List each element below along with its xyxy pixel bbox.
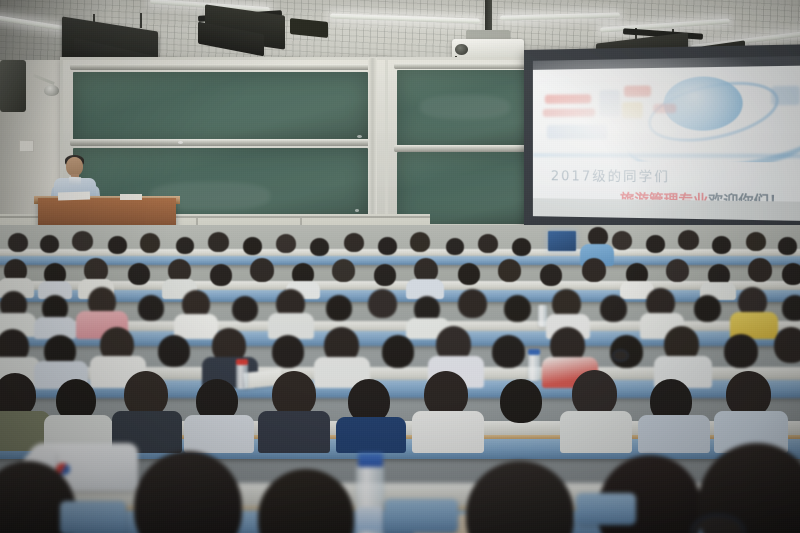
lecture-hall-photo: 2017级的同学们 旅游管理专业欢迎你们！ (0, 0, 800, 533)
student-head (694, 295, 721, 322)
student-head (272, 335, 304, 368)
student-head (478, 234, 498, 253)
bottle-cap-red (236, 359, 248, 365)
bottle-cap-blue (358, 453, 383, 467)
student-head (374, 264, 396, 286)
student-head (310, 238, 329, 256)
student-head (140, 233, 160, 253)
wall-outlet-plate (19, 140, 34, 152)
seat-cushion (576, 493, 636, 525)
seat-cushion (60, 501, 126, 533)
slide-art-element (624, 86, 651, 98)
student-head (332, 259, 355, 282)
seat-cushion (384, 499, 458, 533)
screen-bottom-bar (533, 198, 800, 221)
water-bottle (528, 353, 540, 381)
student-torso (638, 415, 710, 453)
slide-art-element (599, 90, 620, 117)
student-head (368, 289, 397, 318)
student-head (176, 237, 194, 254)
podium-papers (58, 191, 90, 200)
student-head (498, 259, 521, 282)
student-head (8, 233, 28, 252)
chalk-piece (355, 209, 359, 212)
eyeglasses-icon (612, 349, 629, 362)
student-head (612, 231, 632, 250)
bottle-label (356, 507, 384, 531)
chalkboard-divider (368, 58, 377, 228)
student-head (782, 295, 800, 321)
fixture-wire (140, 13, 142, 28)
screen-surface: 2017级的同学们 旅游管理专业欢迎你们！ (533, 56, 800, 221)
student-head (250, 258, 274, 282)
student-torso (184, 415, 254, 453)
student-head (712, 236, 731, 254)
slide-art-element (545, 94, 591, 104)
student-head (774, 327, 800, 363)
student-head (500, 379, 542, 423)
projection-screen: 2017级的同学们 旅游管理专业欢迎你们！ (524, 44, 800, 234)
student-head (746, 232, 766, 251)
dome-camera-icon (44, 85, 59, 96)
student-head (512, 238, 531, 256)
student-torso (412, 411, 484, 453)
student-head (344, 233, 364, 252)
water-bottle-red-cap (236, 363, 248, 389)
student-head (678, 230, 699, 250)
seat-row (0, 290, 800, 302)
student-head (778, 237, 797, 255)
audience-area (0, 225, 800, 533)
projector-lens-icon (455, 44, 468, 55)
bottle-cap-blue (528, 349, 540, 355)
slide-header-graphic (533, 65, 800, 163)
open-laptop (548, 231, 576, 251)
student-head (158, 335, 190, 367)
student-head (446, 238, 464, 255)
student-head (724, 334, 758, 368)
slide-globe-icon (664, 76, 743, 131)
slide-art-element (547, 125, 608, 139)
student-head (572, 370, 617, 417)
student-torso-blue (336, 417, 406, 453)
student-head (458, 263, 480, 285)
student-torso (174, 314, 218, 339)
student-head (138, 295, 164, 321)
student-head (666, 259, 689, 282)
student-head (782, 263, 800, 285)
slide-art-element (543, 109, 595, 117)
student-head (582, 258, 606, 282)
student-head (748, 258, 772, 282)
chalk-smear (420, 95, 510, 119)
student-head-foreground (466, 461, 574, 533)
student-head (600, 295, 627, 322)
slide-art-element (622, 102, 643, 119)
student-head (128, 263, 150, 285)
student-head (410, 232, 430, 252)
slide-art-element (771, 86, 800, 105)
student-head (276, 234, 296, 253)
student-head (208, 232, 229, 252)
projector-mount-pole (485, 0, 492, 34)
student-head-foreground (258, 469, 354, 533)
student-head (540, 264, 562, 286)
chalkboard-panel (73, 72, 368, 142)
student-head (504, 295, 531, 322)
slide-headline-greeting: 2017级的同学们 (551, 165, 670, 185)
student-head (382, 335, 414, 368)
student-head (40, 235, 59, 253)
lecturer-collar (69, 177, 81, 185)
slide-art-element (653, 104, 676, 113)
chalk-rail (70, 64, 370, 70)
student-head (108, 236, 127, 254)
student-head (646, 235, 665, 253)
student-torso (560, 411, 632, 453)
student-head (210, 264, 232, 286)
student-head (378, 237, 397, 255)
student-head (72, 231, 93, 251)
chalk-piece (178, 141, 183, 144)
student-head (492, 335, 525, 368)
student-head (243, 237, 262, 255)
student-head-foreground (134, 451, 242, 533)
side-wall-speaker (0, 60, 26, 112)
chalk-piece (357, 135, 362, 138)
chalk-rail (70, 139, 370, 146)
student-head (326, 295, 352, 321)
student-head (232, 296, 258, 322)
podium-papers (120, 194, 142, 200)
student-head (458, 289, 487, 318)
student-torso-dark (258, 411, 330, 453)
